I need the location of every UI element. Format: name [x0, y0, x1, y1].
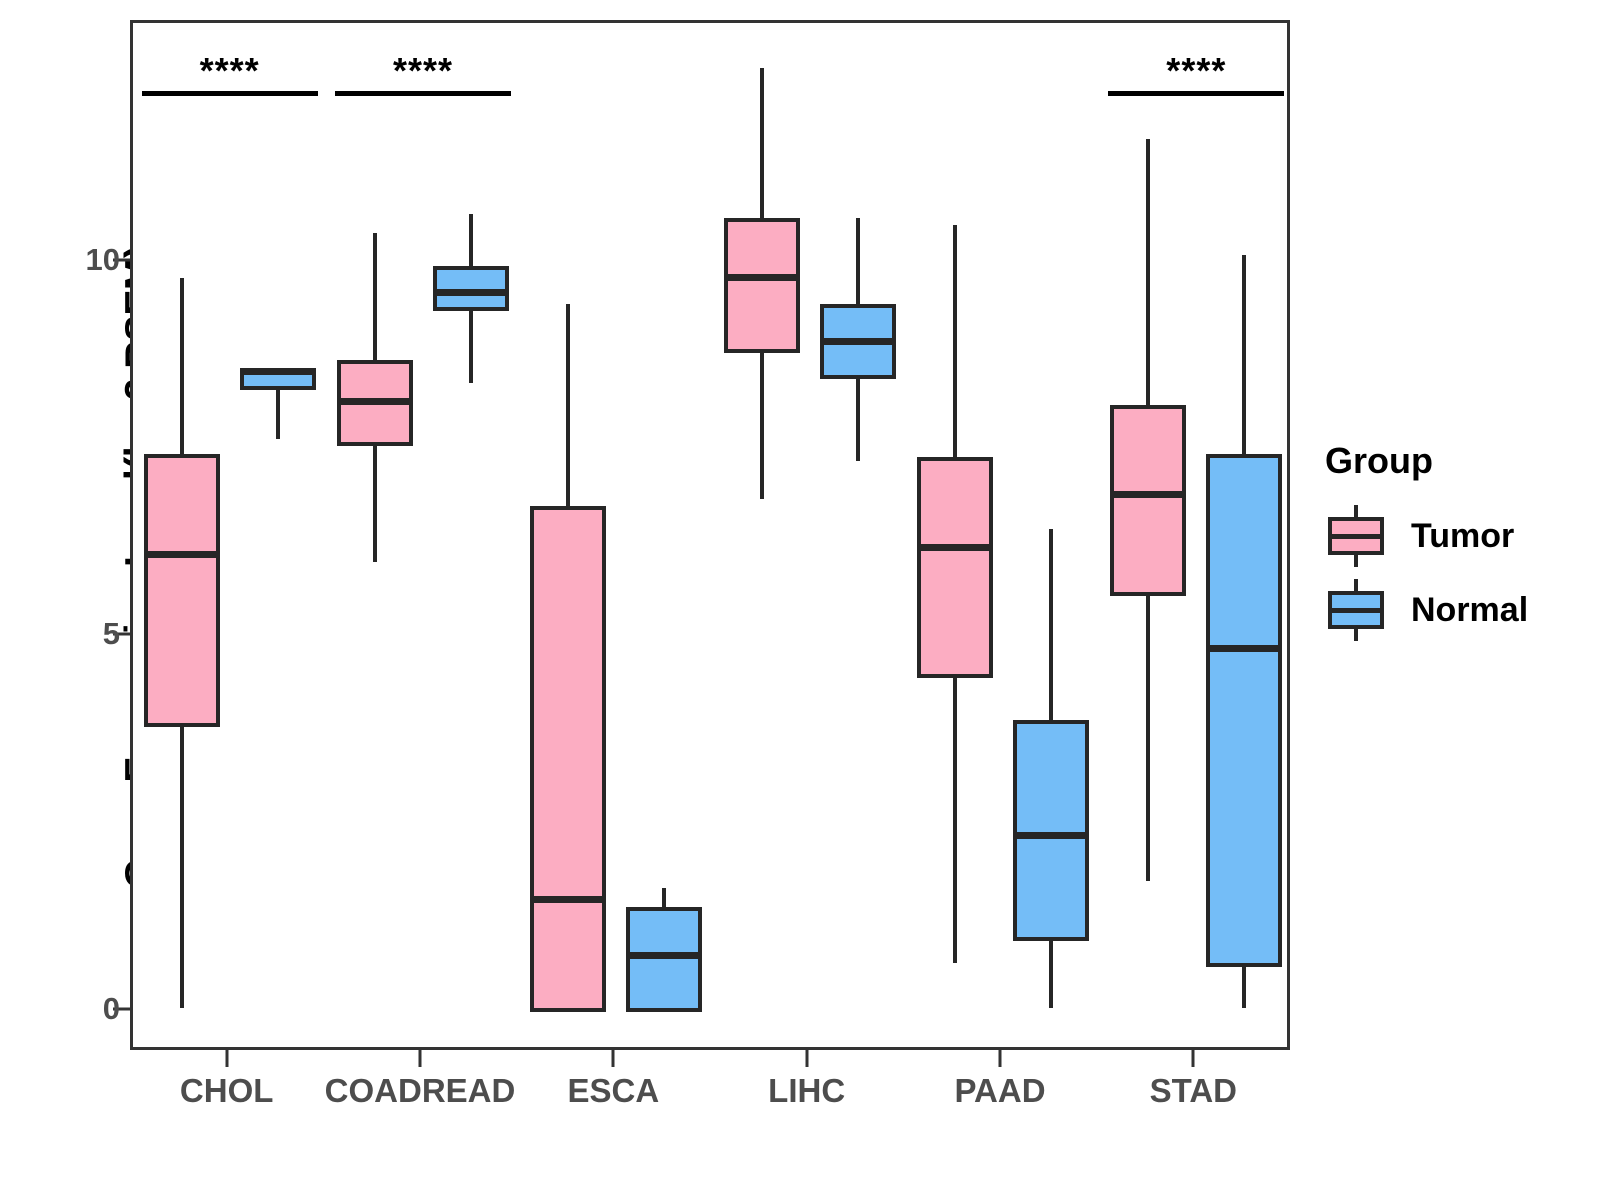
y-tick-label: 10: [50, 242, 120, 278]
boxplot-figure: Gene Expression Level(log2 RSEM) *******…: [0, 0, 1600, 1200]
legend-whisker-bottom: [1354, 553, 1358, 567]
x-tick-label-coadread: COADREAD: [325, 1072, 516, 1110]
box-iqr: [1206, 454, 1282, 967]
plot-area: ************: [133, 23, 1287, 1047]
legend-whisker-bottom: [1354, 627, 1358, 641]
legend-items: TumorNormal: [1325, 504, 1585, 642]
x-tick-label-esca: ESCA: [567, 1072, 659, 1110]
significance-stars-chol: ****: [200, 53, 260, 89]
x-tick-mark: [612, 1050, 615, 1067]
y-tick-label: 0: [50, 991, 120, 1027]
x-tick-mark: [225, 1050, 228, 1067]
median-line: [1206, 645, 1282, 652]
legend-key-tumor: [1325, 505, 1387, 567]
legend-label-normal: Normal: [1411, 591, 1528, 630]
significance-bar-coadread: [335, 91, 511, 96]
legend-median-line: [1328, 534, 1384, 539]
whisker-upper: [1242, 255, 1246, 454]
legend: Group TumorNormal: [1325, 440, 1585, 652]
x-tick-label-chol: CHOL: [180, 1072, 274, 1110]
x-tick-mark: [805, 1050, 808, 1067]
x-tick-label-paad: PAAD: [954, 1072, 1045, 1110]
plot-panel: ************: [130, 20, 1290, 1050]
boxplot-stad-normal[interactable]: [133, 23, 1287, 1047]
significance-bar-stad: [1108, 91, 1284, 96]
x-tick-label-stad: STAD: [1150, 1072, 1237, 1110]
x-tick-mark: [999, 1050, 1002, 1067]
x-tick-label-lihc: LIHC: [768, 1072, 845, 1110]
x-tick-mark: [419, 1050, 422, 1067]
y-tick-label: 5: [50, 616, 120, 652]
legend-item-tumor[interactable]: Tumor: [1325, 504, 1585, 568]
legend-label-tumor: Tumor: [1411, 517, 1514, 556]
x-tick-mark: [1192, 1050, 1195, 1067]
legend-key-normal: [1325, 579, 1387, 641]
significance-bar-chol: [142, 91, 318, 96]
legend-title: Group: [1325, 440, 1585, 482]
whisker-lower: [1242, 967, 1246, 1008]
significance-stars-coadread: ****: [393, 53, 453, 89]
legend-item-normal[interactable]: Normal: [1325, 578, 1585, 642]
significance-stars-stad: ****: [1166, 53, 1226, 89]
legend-median-line: [1328, 608, 1384, 613]
